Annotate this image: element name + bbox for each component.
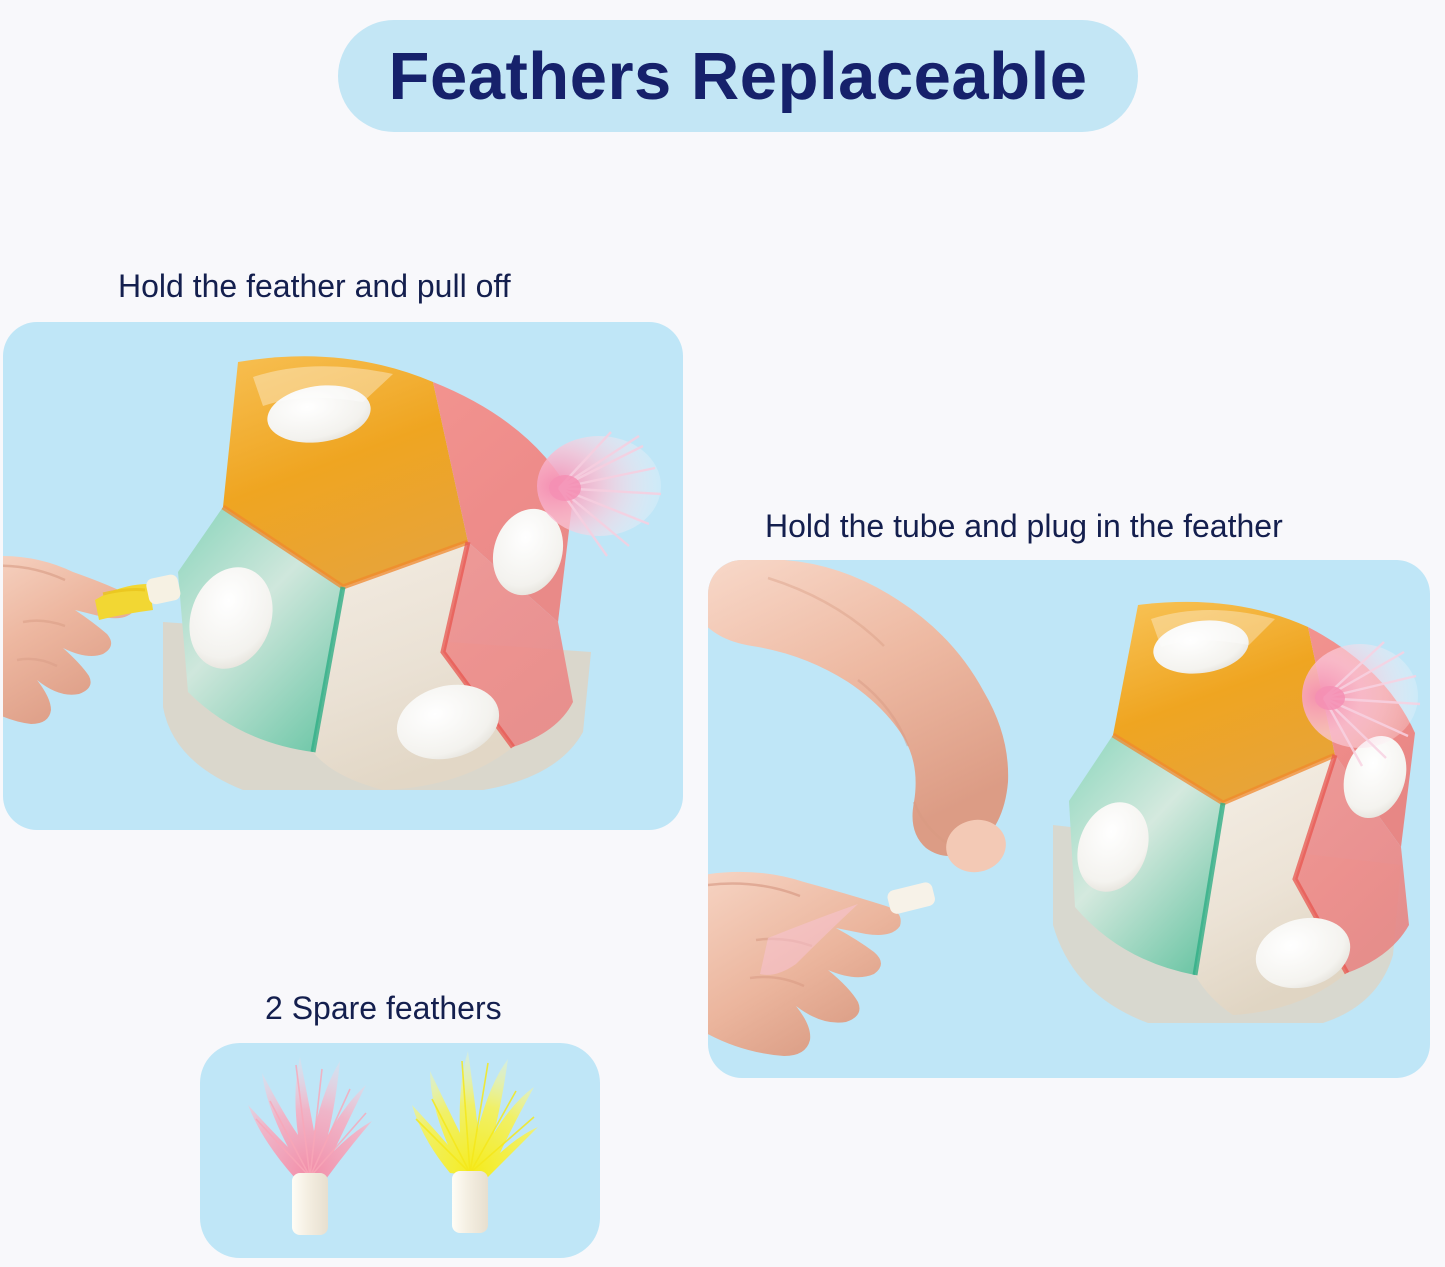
- hand-inserting-feather: [708, 872, 936, 1056]
- illustration-spare-feathers: [200, 1043, 600, 1258]
- caption-spare-feathers: 2 Spare feathers: [265, 992, 502, 1024]
- yellow-plume: [412, 1051, 538, 1177]
- infographic-stage: Feathers Replaceable Hold the feather an…: [0, 0, 1445, 1267]
- pink-feather-tube: [292, 1173, 328, 1235]
- hand-pulling: [3, 556, 135, 724]
- spare-feather-pink: [248, 1057, 372, 1235]
- page-title: Feathers Replaceable: [389, 43, 1088, 110]
- feather-tube: [886, 881, 936, 915]
- photo-panel-plug-in: [708, 560, 1430, 1078]
- illustration-pull-off: [3, 322, 683, 830]
- yellow-feather-tube: [452, 1171, 488, 1233]
- title-badge: Feathers Replaceable: [338, 20, 1138, 132]
- pink-plume: [248, 1057, 372, 1179]
- caption-pull-off: Hold the feather and pull off: [118, 270, 511, 302]
- photo-panel-pull-off: [3, 322, 683, 830]
- feather-tube: [145, 573, 182, 605]
- hand-shape: [3, 556, 135, 724]
- photo-panel-spare-feathers: [200, 1043, 600, 1258]
- caption-plug-in: Hold the tube and plug in the feather: [765, 510, 1283, 542]
- cat-toy-cube: [163, 356, 591, 790]
- spare-feather-yellow: [412, 1051, 538, 1233]
- illustration-plug-in: [708, 560, 1430, 1078]
- removed-feather-yellow: [95, 573, 182, 620]
- hand-shape-lower: [708, 872, 901, 1056]
- hand-shape-upper: [708, 560, 1008, 856]
- hand-holding-toy: [708, 560, 1011, 878]
